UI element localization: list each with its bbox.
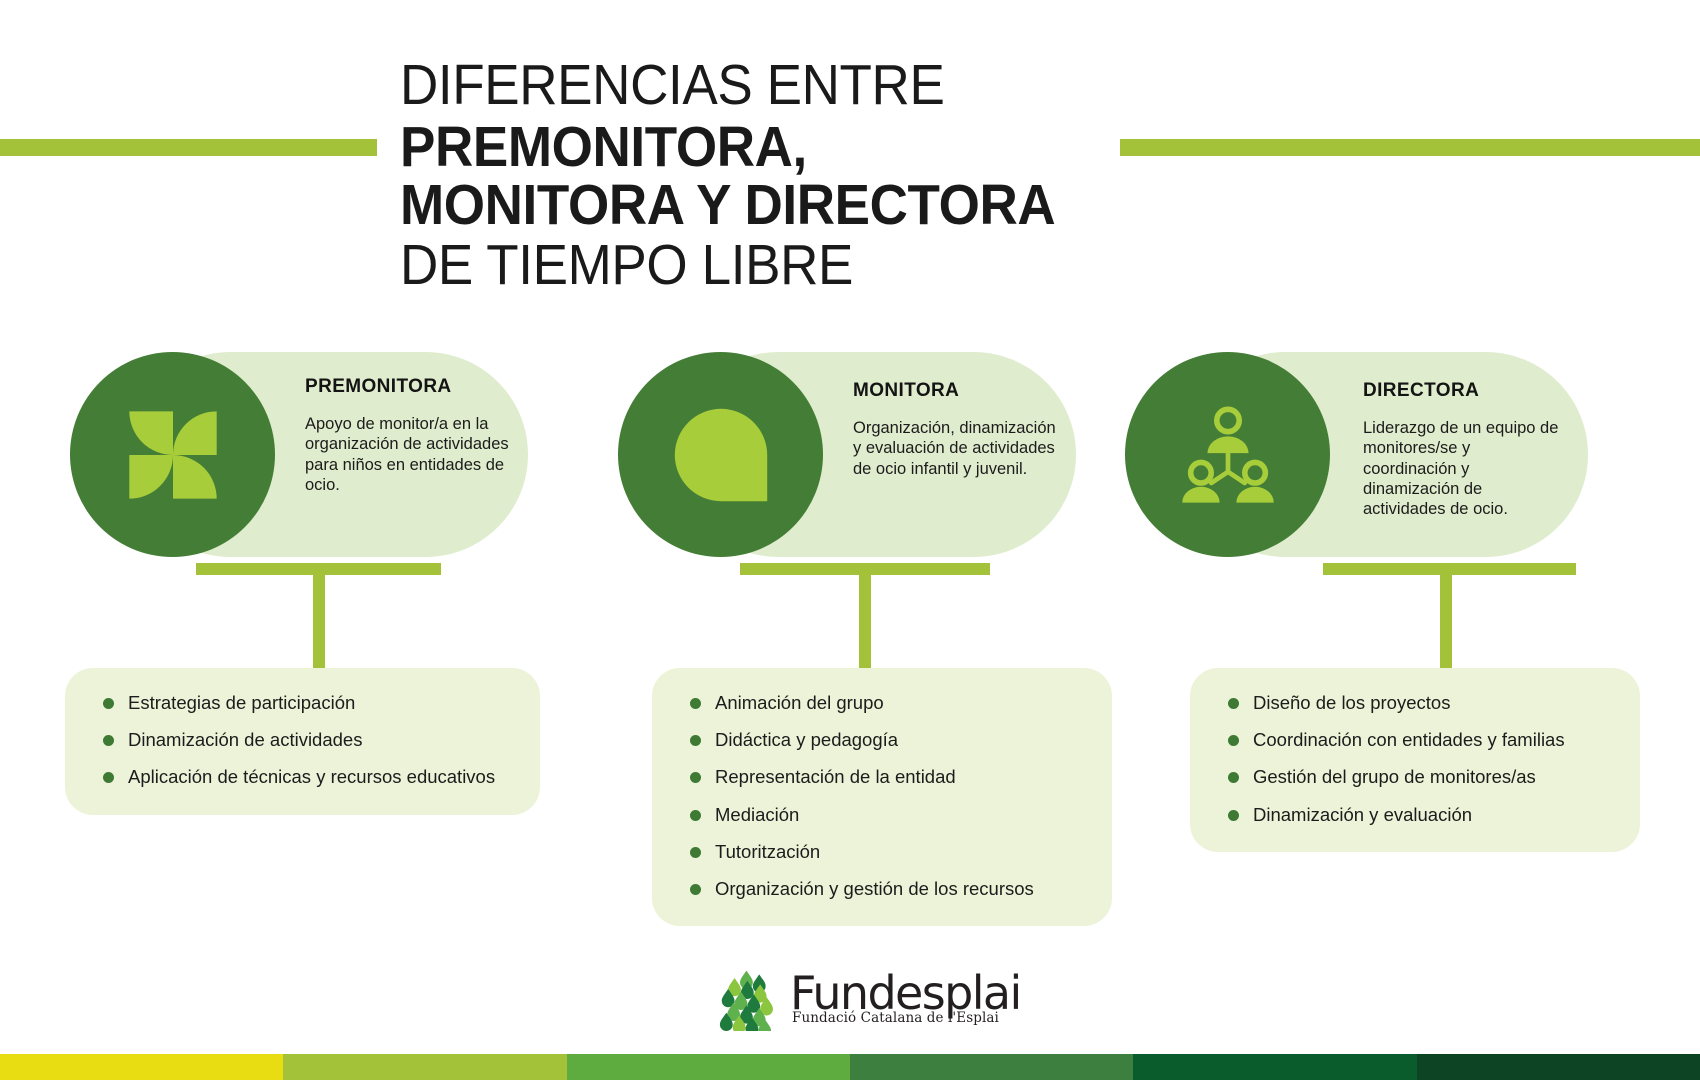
bar-segment-3 bbox=[567, 1054, 850, 1080]
bullet-dot-icon bbox=[690, 698, 701, 709]
bullet-dot-icon bbox=[103, 698, 114, 709]
list-item-label: Aplicación de técnicas y recursos educat… bbox=[128, 766, 495, 788]
card-description: Liderazgo de un equipo de monitores/se y… bbox=[1363, 418, 1563, 519]
bar-segment-2 bbox=[283, 1054, 566, 1080]
bullet-panel-premonitora: Estrategias de participación Dinamizació… bbox=[65, 668, 540, 815]
title-rule-right bbox=[1120, 139, 1700, 156]
list-item: Estrategias de participación bbox=[103, 692, 510, 714]
list-item: Coordinación con entidades y familias bbox=[1228, 729, 1610, 751]
page-title: DIFERENCIAS ENTRE PREMONITORA, MONITORA … bbox=[400, 58, 1160, 293]
list-item: Diseño de los proyectos bbox=[1228, 692, 1610, 714]
card-role-label: PREMONITORA bbox=[305, 376, 452, 398]
card-role-label: MONITORA bbox=[853, 380, 959, 402]
list-item-label: Estrategias de participación bbox=[128, 692, 355, 714]
bullet-panel-directora: Diseño de los proyectos Coordinación con… bbox=[1190, 668, 1640, 852]
list-item-label: Coordinación con entidades y familias bbox=[1253, 729, 1565, 751]
bullet-dot-icon bbox=[690, 847, 701, 858]
card-description: Organización, dinamización y evaluación … bbox=[853, 418, 1068, 479]
card-icon-circle bbox=[70, 352, 275, 557]
title-line-2: PREMONITORA, bbox=[400, 120, 1107, 176]
list-item: Organización y gestión de los recursos bbox=[690, 878, 1082, 900]
role-card-monitora: MONITORA Organización, dinamización y ev… bbox=[548, 352, 1088, 557]
list-item-label: Didáctica y pedagogía bbox=[715, 729, 898, 751]
bar-segment-5 bbox=[1133, 1054, 1416, 1080]
team-network-icon bbox=[1172, 399, 1284, 511]
role-cards-row: PREMONITORA Apoyo de monitor/a en la org… bbox=[0, 352, 1700, 582]
list-item-label: Organización y gestión de los recursos bbox=[715, 878, 1034, 900]
bullet-dot-icon bbox=[690, 810, 701, 821]
list-item: Representación de la entidad bbox=[690, 766, 1082, 788]
list-item-label: Mediación bbox=[715, 804, 799, 826]
connector-stem-premonitora bbox=[313, 563, 325, 671]
list-item: Didáctica y pedagogía bbox=[690, 729, 1082, 751]
list-item: Gestión del grupo de monitores/as bbox=[1228, 766, 1610, 788]
list-item: Dinamización y evaluación bbox=[1228, 804, 1610, 826]
list-item-label: Representación de la entidad bbox=[715, 766, 956, 788]
bullet-dot-icon bbox=[1228, 772, 1239, 783]
bullet-dot-icon bbox=[690, 772, 701, 783]
list-item: Dinamización de actividades bbox=[103, 729, 510, 751]
bullet-dot-icon bbox=[103, 772, 114, 783]
bullet-dot-icon bbox=[103, 735, 114, 746]
bottom-color-bar bbox=[0, 1054, 1700, 1080]
card-icon-circle bbox=[1125, 352, 1330, 557]
list-item-label: Tutoritzación bbox=[715, 841, 820, 863]
title-line-4: DE TIEMPO LIBRE bbox=[400, 238, 1107, 294]
role-card-premonitora: PREMONITORA Apoyo de monitor/a en la org… bbox=[0, 352, 540, 557]
card-description: Apoyo de monitor/a en la organización de… bbox=[305, 414, 520, 495]
list-item: Aplicación de técnicas y recursos educat… bbox=[103, 766, 510, 788]
title-line-1: DIFERENCIAS ENTRE bbox=[400, 58, 1107, 114]
card-icon-circle bbox=[618, 352, 823, 557]
list-item-label: Animación del grupo bbox=[715, 692, 884, 714]
bullet-dot-icon bbox=[690, 735, 701, 746]
logo-tagline: Fundació Catalana de l'Esplai bbox=[792, 1010, 1021, 1026]
bullet-dot-icon bbox=[690, 884, 701, 895]
bullet-panel-monitora: Animación del grupo Didáctica y pedagogí… bbox=[652, 668, 1112, 926]
leaf-tree-icon bbox=[718, 967, 784, 1031]
connector-stem-directora bbox=[1440, 563, 1452, 671]
role-card-directora: DIRECTORA Liderazgo de un equipo de moni… bbox=[1055, 352, 1600, 557]
pinwheel-flower-icon bbox=[121, 403, 225, 507]
list-item-label: Dinamización de actividades bbox=[128, 729, 362, 751]
bar-segment-6 bbox=[1417, 1054, 1700, 1080]
list-item-label: Dinamización y evaluación bbox=[1253, 804, 1472, 826]
fundesplai-logo: Fundesplai Fundació Catalana de l'Esplai bbox=[718, 963, 1008, 1035]
teardrop-icon bbox=[666, 400, 776, 510]
bullet-dot-icon bbox=[1228, 735, 1239, 746]
connector-stem-monitora bbox=[859, 563, 871, 671]
bar-segment-1 bbox=[0, 1054, 283, 1080]
bullet-dot-icon bbox=[1228, 810, 1239, 821]
list-item-label: Diseño de los proyectos bbox=[1253, 692, 1450, 714]
list-item: Mediación bbox=[690, 804, 1082, 826]
title-rule-left bbox=[0, 139, 377, 156]
bullet-dot-icon bbox=[1228, 698, 1239, 709]
list-item: Animación del grupo bbox=[690, 692, 1082, 714]
bar-segment-4 bbox=[850, 1054, 1133, 1080]
list-item: Tutoritzación bbox=[690, 841, 1082, 863]
list-item-label: Gestión del grupo de monitores/as bbox=[1253, 766, 1536, 788]
title-line-3: MONITORA Y DIRECTORA bbox=[400, 178, 1107, 234]
card-role-label: DIRECTORA bbox=[1363, 380, 1479, 402]
